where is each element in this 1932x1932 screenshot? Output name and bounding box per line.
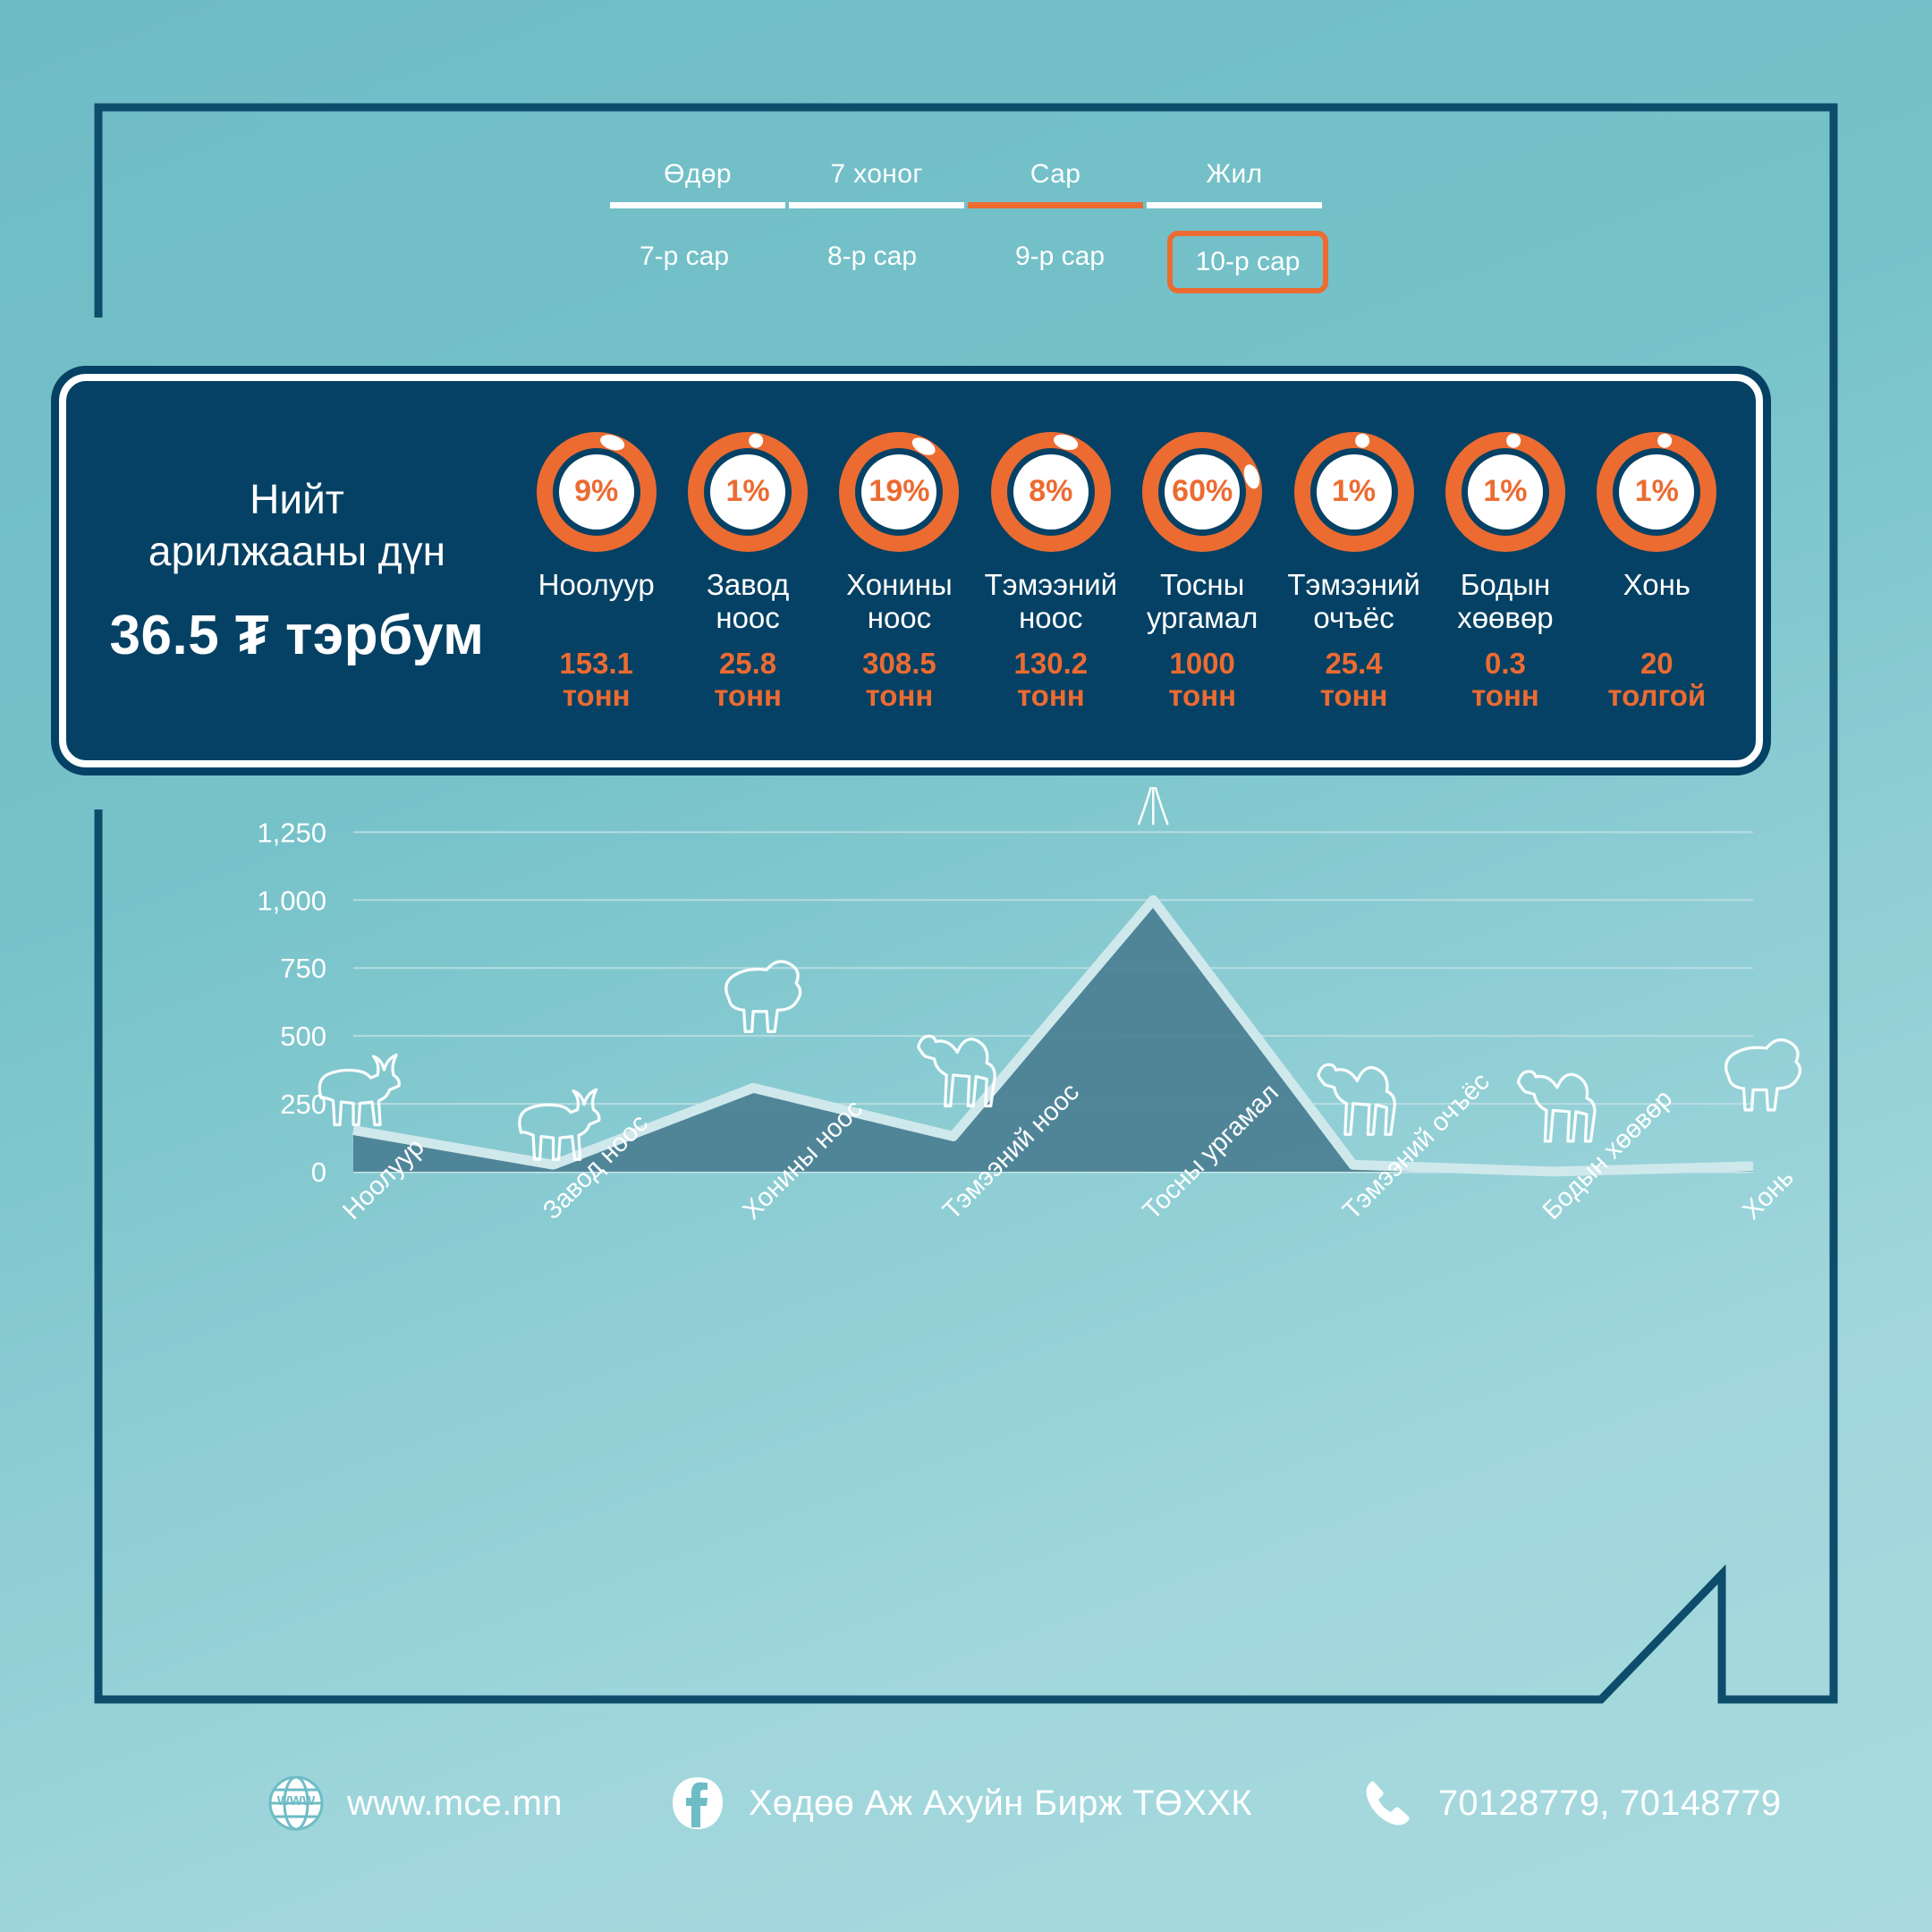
footer-website[interactable]: WWW www.mce.mn (268, 1775, 563, 1831)
area-chart-svg: 02505007501,0001,250НоолуурЗавод ноосХон… (0, 787, 1932, 1726)
footer-phone[interactable]: 70128779, 70148779 (1360, 1775, 1782, 1831)
kpi-name: Ноолуур (538, 569, 655, 640)
globe-icon: WWW (268, 1775, 324, 1831)
month-selector[interactable]: 7-р сар 8-р сар 9-р сар 10-р сар (590, 222, 1342, 302)
y-axis-tick-label: 1,250 (257, 817, 326, 848)
kpi-name: Бодын хөөвөр (1457, 569, 1553, 640)
kpi-amount: 1000 тонн (1168, 648, 1236, 713)
kpi-amount: 130.2 тонн (1014, 648, 1089, 713)
month-option-9-label: 9-р сар (992, 231, 1128, 283)
month-option-8-label: 8-р сар (804, 231, 940, 283)
infographic-root: Өдөр 7 хоног Сар Жил 7-р сар 8-р сар 9-р… (0, 0, 1932, 1932)
footer-contacts: WWW www.mce.mn Хөдөө Аж Ахуйн Бирж ТӨХХК… (268, 1775, 1781, 1831)
phone-icon (1360, 1775, 1415, 1831)
month-option-7-label: 7-р сар (616, 231, 752, 283)
kpi-item[interactable]: 1%Тэмээний очъёс25.4 тонн (1278, 429, 1429, 713)
footer-facebook[interactable]: Хөдөө Аж Ахуйн Бирж ТӨХХК (670, 1775, 1252, 1831)
tab-underline-week (789, 202, 964, 208)
donut-gauge: 60% (1140, 429, 1265, 555)
footer-website-text: www.mce.mn (347, 1784, 563, 1824)
kpi-item[interactable]: 1%Бодын хөөвөр0.3 тонн (1429, 429, 1580, 713)
footer-phone-text: 70128779, 70148779 (1438, 1784, 1782, 1824)
kpi-item[interactable]: 9%Ноолуур153.1 тонн (521, 429, 672, 713)
donut-gauge: 8% (988, 429, 1114, 555)
donut-gauge: 1% (1594, 429, 1719, 555)
kpi-amount: 0.3 тонн (1471, 648, 1539, 713)
month-option-7[interactable]: 7-р сар (590, 222, 778, 302)
tab-month[interactable]: Сар (966, 159, 1145, 202)
kpi-item[interactable]: 60%Тосны ургамал1000 тонн (1127, 429, 1278, 713)
trade-volume-chart: 02505007501,0001,250НоолуурЗавод ноосХон… (0, 787, 1932, 1726)
donut-gauge: 1% (1443, 429, 1568, 555)
total-trade-label-line2: арилжааны дүн (82, 526, 512, 578)
facebook-icon (670, 1775, 725, 1831)
kpi-list: 9%Ноолуур153.1 тонн1%Завод ноос25.8 тонн… (512, 429, 1756, 713)
period-tabs[interactable]: Өдөр 7 хоног Сар Жил (608, 159, 1324, 208)
x-axis-tick-label: Тэмээний очъёс (1337, 1067, 1496, 1225)
kpi-percent: 1% (685, 429, 810, 555)
tab-week[interactable]: 7 хоног (787, 159, 966, 202)
total-trade-label-line1: Нийт (82, 474, 512, 526)
camel-icon (1518, 1072, 1595, 1141)
kpi-name: Завод ноос (707, 569, 789, 640)
total-trade-value: 36.5 ₮ тэрбум (82, 604, 512, 667)
footer-facebook-text: Хөдөө Аж Ахуйн Бирж ТӨХХК (749, 1784, 1252, 1824)
month-option-10-label: 10-р сар (1167, 231, 1329, 293)
kpi-amount: 308.5 тонн (862, 648, 936, 713)
tab-underline-day (610, 202, 785, 208)
tab-day[interactable]: Өдөр (608, 159, 787, 202)
x-axis-tick-label: Бодын хөөвөр (1538, 1084, 1679, 1225)
kpi-item[interactable]: 19%Хонины ноос308.5 тонн (824, 429, 975, 713)
kpi-amount: 25.4 тонн (1320, 648, 1388, 713)
period-tabs-labels: Өдөр 7 хоног Сар Жил (608, 159, 1324, 202)
month-option-9[interactable]: 9-р сар (966, 222, 1154, 302)
kpi-percent: 19% (836, 429, 962, 555)
y-axis-tick-label: 0 (311, 1157, 326, 1188)
y-axis-tick-label: 1,000 (257, 885, 326, 916)
y-axis-tick-label: 500 (280, 1021, 326, 1052)
donut-gauge: 1% (1292, 429, 1417, 555)
donut-gauge: 1% (685, 429, 810, 555)
kpi-amount: 25.8 тонн (714, 648, 782, 713)
donut-gauge: 19% (836, 429, 962, 555)
period-tabs-underline (608, 202, 1324, 208)
y-axis-tick-label: 750 (280, 953, 326, 984)
kpi-name: Хонины ноос (846, 569, 953, 640)
kpi-item[interactable]: 8%Тэмээний ноос130.2 тонн (975, 429, 1126, 713)
svg-text:WWW: WWW (277, 1793, 316, 1809)
summary-panel: Нийт арилжааны дүн 36.5 ₮ тэрбум 9%Ноолу… (59, 374, 1763, 767)
kpi-item[interactable]: 1%Завод ноос25.8 тонн (672, 429, 823, 713)
month-option-8[interactable]: 8-р сар (778, 222, 966, 302)
kpi-percent: 8% (988, 429, 1114, 555)
total-trade-block: Нийт арилжааны дүн 36.5 ₮ тэрбум (66, 474, 512, 667)
sheep-icon (726, 962, 801, 1031)
kpi-percent: 1% (1292, 429, 1417, 555)
wheat-icon (1139, 787, 1167, 824)
kpi-percent: 1% (1443, 429, 1568, 555)
tab-underline-year (1147, 202, 1322, 208)
kpi-percent: 1% (1594, 429, 1719, 555)
kpi-amount: 20 толгой (1607, 648, 1706, 713)
month-option-10[interactable]: 10-р сар (1154, 222, 1342, 302)
kpi-name: Хонь (1623, 569, 1690, 640)
donut-gauge: 9% (534, 429, 659, 555)
tab-year[interactable]: Жил (1145, 159, 1324, 202)
kpi-name: Тэмээний очъёс (1287, 569, 1419, 640)
tab-underline-month (968, 202, 1143, 208)
kpi-name: Тэмээний ноос (985, 569, 1117, 640)
sheep-icon (1726, 1040, 1801, 1110)
kpi-percent: 9% (534, 429, 659, 555)
kpi-percent: 60% (1140, 429, 1265, 555)
kpi-name: Тосны ургамал (1147, 569, 1258, 640)
camel-icon (1318, 1064, 1395, 1134)
kpi-amount: 153.1 тонн (559, 648, 633, 713)
goat-icon (319, 1055, 399, 1125)
kpi-item[interactable]: 1%Хонь20 толгой (1581, 429, 1733, 713)
